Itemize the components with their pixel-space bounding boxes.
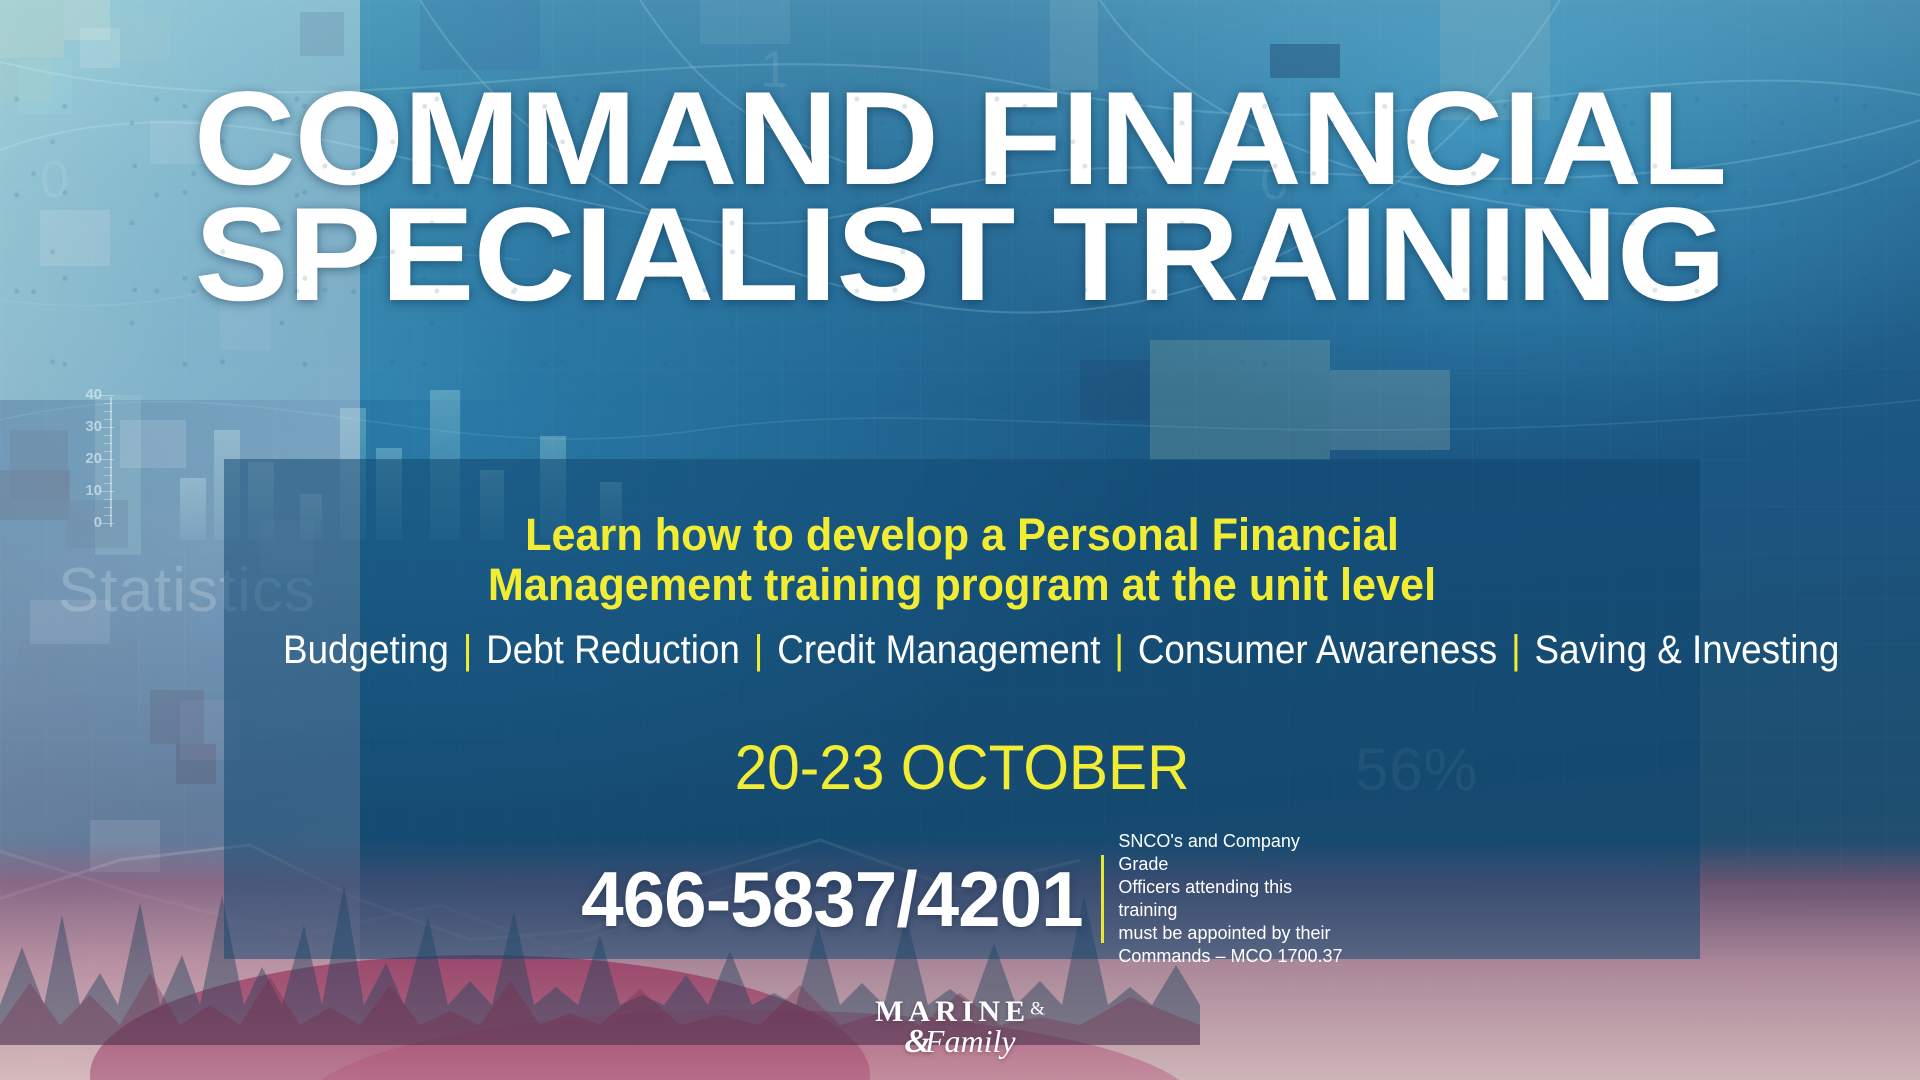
topic-consumer-awareness: Consumer Awareness <box>1138 628 1497 672</box>
fineprint-line: Commands – MCO 1700.37 <box>1118 945 1348 968</box>
lead-statement: Learn how to develop a Personal Financia… <box>254 510 1671 611</box>
marine-and-family-logo: MARINE& &Family <box>0 995 1920 1061</box>
phone-number[interactable]: 466-5837/4201 <box>581 854 1083 945</box>
topic-debt-reduction: Debt Reduction <box>486 628 740 672</box>
event-dates: 20-23 OCTOBER <box>276 732 1649 804</box>
fineprint-line: Officers attending this training <box>1118 876 1348 922</box>
fineprint-line: must be appointed by their <box>1118 922 1348 945</box>
topic-separator: | <box>1507 628 1524 672</box>
fineprint-note: SNCO's and Company Grade Officers attend… <box>1118 830 1348 968</box>
logo-word-family: Family <box>925 1023 1016 1059</box>
topic-budgeting: Budgeting <box>283 628 449 672</box>
lead-line-1: Learn how to develop a Personal Financia… <box>254 510 1671 560</box>
headline-line-2: SPECIALIST TRAINING <box>0 194 1920 316</box>
topic-separator: | <box>750 628 767 672</box>
topic-credit-management: Credit Management <box>777 628 1100 672</box>
poster-headline: COMMAND FINANCIAL SPECIALIST TRAINING <box>0 78 1920 317</box>
topic-separator: | <box>459 628 476 672</box>
lead-line-2: Management training program at the unit … <box>254 560 1671 610</box>
fineprint-line: SNCO's and Company Grade <box>1118 830 1348 876</box>
logo-word-family-wrap: &Family <box>0 1023 1920 1061</box>
topics-list: Budgeting | Debt Reduction | Credit Mana… <box>283 628 1641 673</box>
poster-canvas: 40 30 20 10 0 Statistics 56% 0 0 1 0 <box>0 0 1920 1080</box>
contact-row: 466-5837/4201 SNCO's and Company Grade O… <box>224 830 1700 968</box>
topic-separator: | <box>1111 628 1128 672</box>
logo-ampersand-small: & <box>1030 999 1045 1020</box>
contact-divider <box>1101 855 1104 943</box>
topic-saving-investing: Saving & Investing <box>1535 628 1840 672</box>
